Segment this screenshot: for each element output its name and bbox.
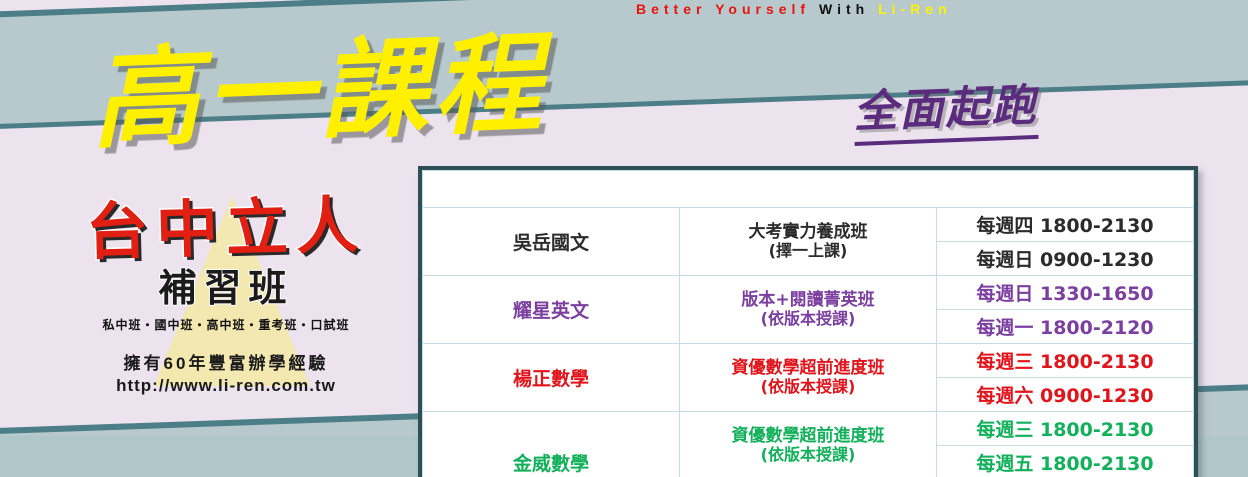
poster-root: Better Yourself With Li-Ren 高一課程 全面起跑 台中… bbox=[0, 0, 1248, 477]
class-name-note: (依版本授課) bbox=[680, 446, 936, 464]
class-time-cell: 每週日 1330-1650 bbox=[937, 276, 1194, 310]
class-name-cell: 資優數學超前進度班(依版本授課) bbox=[680, 344, 937, 412]
class-time-cell: 每週四 1800-2130 bbox=[937, 208, 1194, 242]
teacher-subject-cell: 楊正數學 bbox=[423, 344, 680, 412]
teacher-subject-cell: 吳岳國文 bbox=[423, 208, 680, 276]
schedule-table-header-cell: 高一段考進度超前班 黃金上課時段 bbox=[423, 171, 1194, 208]
class-name-cell: 版本+閱讀菁英班(依版本授課) bbox=[680, 276, 937, 344]
class-name-cell: 資優數學超前進度班(依版本授課) bbox=[680, 412, 937, 477]
teacher-subject-cell: 耀星英文 bbox=[423, 276, 680, 344]
class-name-cell: 大考實力養成班(擇一上課) bbox=[680, 208, 937, 276]
schedule-table-header-row: 高一段考進度超前班 黃金上課時段 bbox=[423, 171, 1194, 208]
tagline-word-liren: Li-Ren bbox=[878, 1, 952, 17]
page-title: 高一課程 bbox=[88, 0, 550, 170]
logo-experience: 擁有60年豐富辦學經驗 bbox=[36, 349, 416, 374]
table-row: 耀星英文版本+閱讀菁英班(依版本授課)每週日 1330-1650 bbox=[423, 276, 1194, 310]
table-row: 楊正數學資優數學超前進度班(依版本授課)每週三 1800-2130 bbox=[423, 344, 1194, 378]
schedule-table: 高一段考進度超前班 黃金上課時段吳岳國文大考實力養成班(擇一上課)每週四 180… bbox=[422, 170, 1194, 477]
teacher-subject-cell: 金威數學 bbox=[423, 412, 680, 477]
page-subtitle: 全面起跑 bbox=[852, 69, 1039, 146]
schedule-table-container: 高一段考進度超前班 黃金上課時段吳岳國文大考實力養成班(擇一上課)每週四 180… bbox=[418, 166, 1198, 477]
class-time-cell: 每週三 1800-2130 bbox=[937, 412, 1194, 446]
tagline-word-better: Better bbox=[636, 1, 706, 17]
class-time-cell: 每週一 1800-2120 bbox=[937, 310, 1194, 344]
class-name-text: 版本+閱讀菁英班 bbox=[680, 291, 936, 311]
class-name-text: 資優數學超前進度班 bbox=[680, 359, 936, 379]
logo-website-url[interactable]: http://www.li-ren.com.tw bbox=[36, 376, 416, 396]
logo-name: 台中立人 bbox=[35, 191, 417, 266]
class-name-note: (依版本授課) bbox=[680, 378, 936, 396]
brand-logo: 台中立人 補習班 私中班・國中班・高中班・重考班・口試班 擁有60年豐富辦學經驗… bbox=[36, 196, 416, 396]
table-row: 金威數學資優數學超前進度班(依版本授課)每週三 1800-2130 bbox=[423, 412, 1194, 446]
logo-class-list: 私中班・國中班・高中班・重考班・口試班 bbox=[36, 316, 416, 333]
class-time-cell: 每週六 0900-1230 bbox=[937, 378, 1194, 412]
class-name-note: (擇一上課) bbox=[680, 242, 936, 260]
table-row: 吳岳國文大考實力養成班(擇一上課)每週四 1800-2130 bbox=[423, 208, 1194, 242]
class-time-cell: 每週日 0900-1230 bbox=[937, 242, 1194, 276]
tagline: Better Yourself With Li-Ren bbox=[636, 1, 1236, 17]
class-time-cell: 每週五 1800-2130 bbox=[937, 446, 1194, 477]
class-time-cell: 每週三 1800-2130 bbox=[937, 344, 1194, 378]
class-name-text: 大考實力養成班 bbox=[680, 223, 936, 243]
class-name-note: (依版本授課) bbox=[680, 310, 936, 328]
tagline-word-with: With bbox=[819, 1, 869, 17]
tagline-word-yourself: Yourself bbox=[715, 1, 810, 17]
class-name-text: 資優數學超前進度班 bbox=[680, 427, 936, 447]
